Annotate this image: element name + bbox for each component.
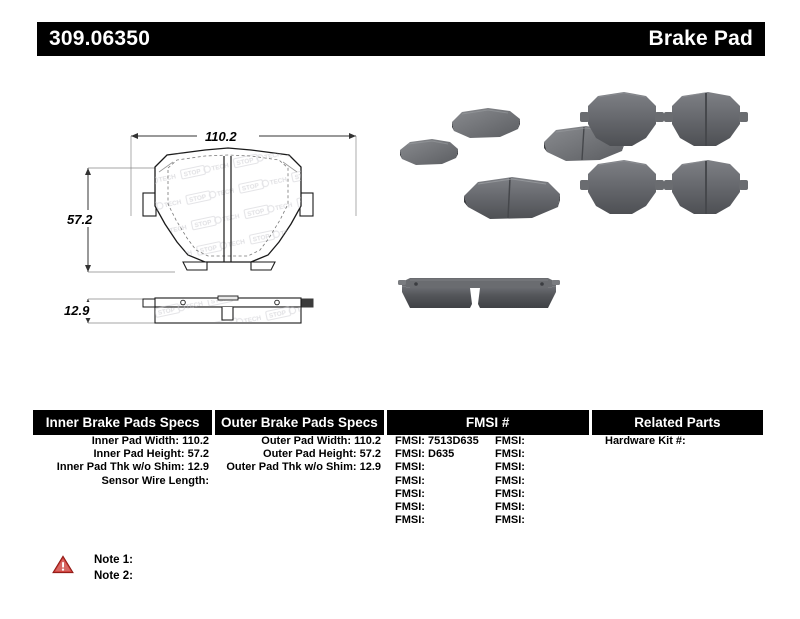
product-photos-svg (392, 78, 792, 348)
spec-row: Inner Pad Width: 110.2 (33, 435, 213, 448)
fmsi-column: FMSI: 7513D635 FMSI: D635 FMSI: FMSI: FM… (388, 435, 591, 527)
fmsi-row: FMSI: (388, 501, 488, 514)
column-header-outer-specs: Outer Brake Pads Specs (215, 410, 383, 435)
pad-face-view (143, 145, 313, 270)
fmsi-subcolumn-left: FMSI: 7513D635 FMSI: D635 FMSI: FMSI: FM… (388, 435, 488, 527)
note-lines: Note 1: Note 2: (94, 552, 133, 584)
fmsi-row: FMSI: (388, 461, 488, 474)
fmsi-row: FMSI: 7513D635 (388, 435, 488, 448)
fmsi-row: FMSI: (488, 435, 588, 448)
related-parts-column: Hardware Kit #: (594, 435, 766, 448)
header-bar: 309.06350 Brake Pad (37, 22, 765, 56)
related-part-row: Hardware Kit #: (594, 435, 766, 448)
note-1: Note 1: (94, 552, 133, 568)
fmsi-row: FMSI: (488, 501, 588, 514)
spec-row: Inner Pad Thk w/o Shim: 12.9 (33, 461, 213, 474)
spec-row: Outer Pad Height: 57.2 (216, 448, 385, 461)
fmsi-row: FMSI: (488, 448, 588, 461)
note-2: Note 2: (94, 568, 133, 584)
column-header-inner-specs: Inner Brake Pads Specs (33, 410, 212, 435)
spec-row: Outer Pad Thk w/o Shim: 12.9 (216, 461, 385, 474)
photo-pad-edge (398, 278, 560, 308)
fmsi-row: FMSI: (388, 488, 488, 501)
spec-sheet: 309.06350 Brake Pad STOP TECH (0, 0, 800, 619)
outer-specs-column: Outer Pad Width: 110.2 Outer Pad Height:… (216, 435, 385, 475)
spec-row: Outer Pad Width: 110.2 (216, 435, 385, 448)
specs-table: Inner Brake Pads Specs Outer Brake Pads … (33, 410, 763, 540)
product-photo-group (392, 78, 792, 348)
fmsi-row: FMSI: (488, 475, 588, 488)
fmsi-row: FMSI: (488, 488, 588, 501)
specs-table-header-row: Inner Brake Pads Specs Outer Brake Pads … (33, 410, 763, 435)
column-header-fmsi: FMSI # (387, 410, 589, 435)
spec-row: Inner Pad Height: 57.2 (33, 448, 213, 461)
fmsi-row: FMSI: (388, 475, 488, 488)
fmsi-row: FMSI: (388, 514, 488, 527)
dimension-height-label: 57.2 (67, 212, 93, 227)
dimension-width-label: 110.2 (205, 129, 237, 144)
technical-drawing: STOP TECH 110 (55, 110, 395, 345)
drawing-svg: STOP TECH 110 (55, 110, 395, 345)
spec-row: Sensor Wire Length: (33, 475, 213, 488)
fmsi-row: FMSI: (488, 514, 588, 527)
fmsi-row: FMSI: (488, 461, 588, 474)
inner-specs-column: Inner Pad Width: 110.2 Inner Pad Height:… (33, 435, 213, 488)
product-type-label: Brake Pad (648, 27, 753, 51)
notes-section: Note 1: Note 2: (52, 552, 352, 594)
part-number: 309.06350 (49, 27, 150, 51)
fmsi-row: FMSI: D635 (388, 448, 488, 461)
pad-side-view (143, 296, 313, 326)
column-header-related-parts: Related Parts (592, 410, 763, 435)
warning-triangle-icon (52, 555, 74, 574)
fmsi-subcolumn-right: FMSI: FMSI: FMSI: FMSI: FMSI: FMSI: FMSI… (488, 435, 588, 527)
dimension-thickness-label: 12.9 (64, 303, 90, 318)
